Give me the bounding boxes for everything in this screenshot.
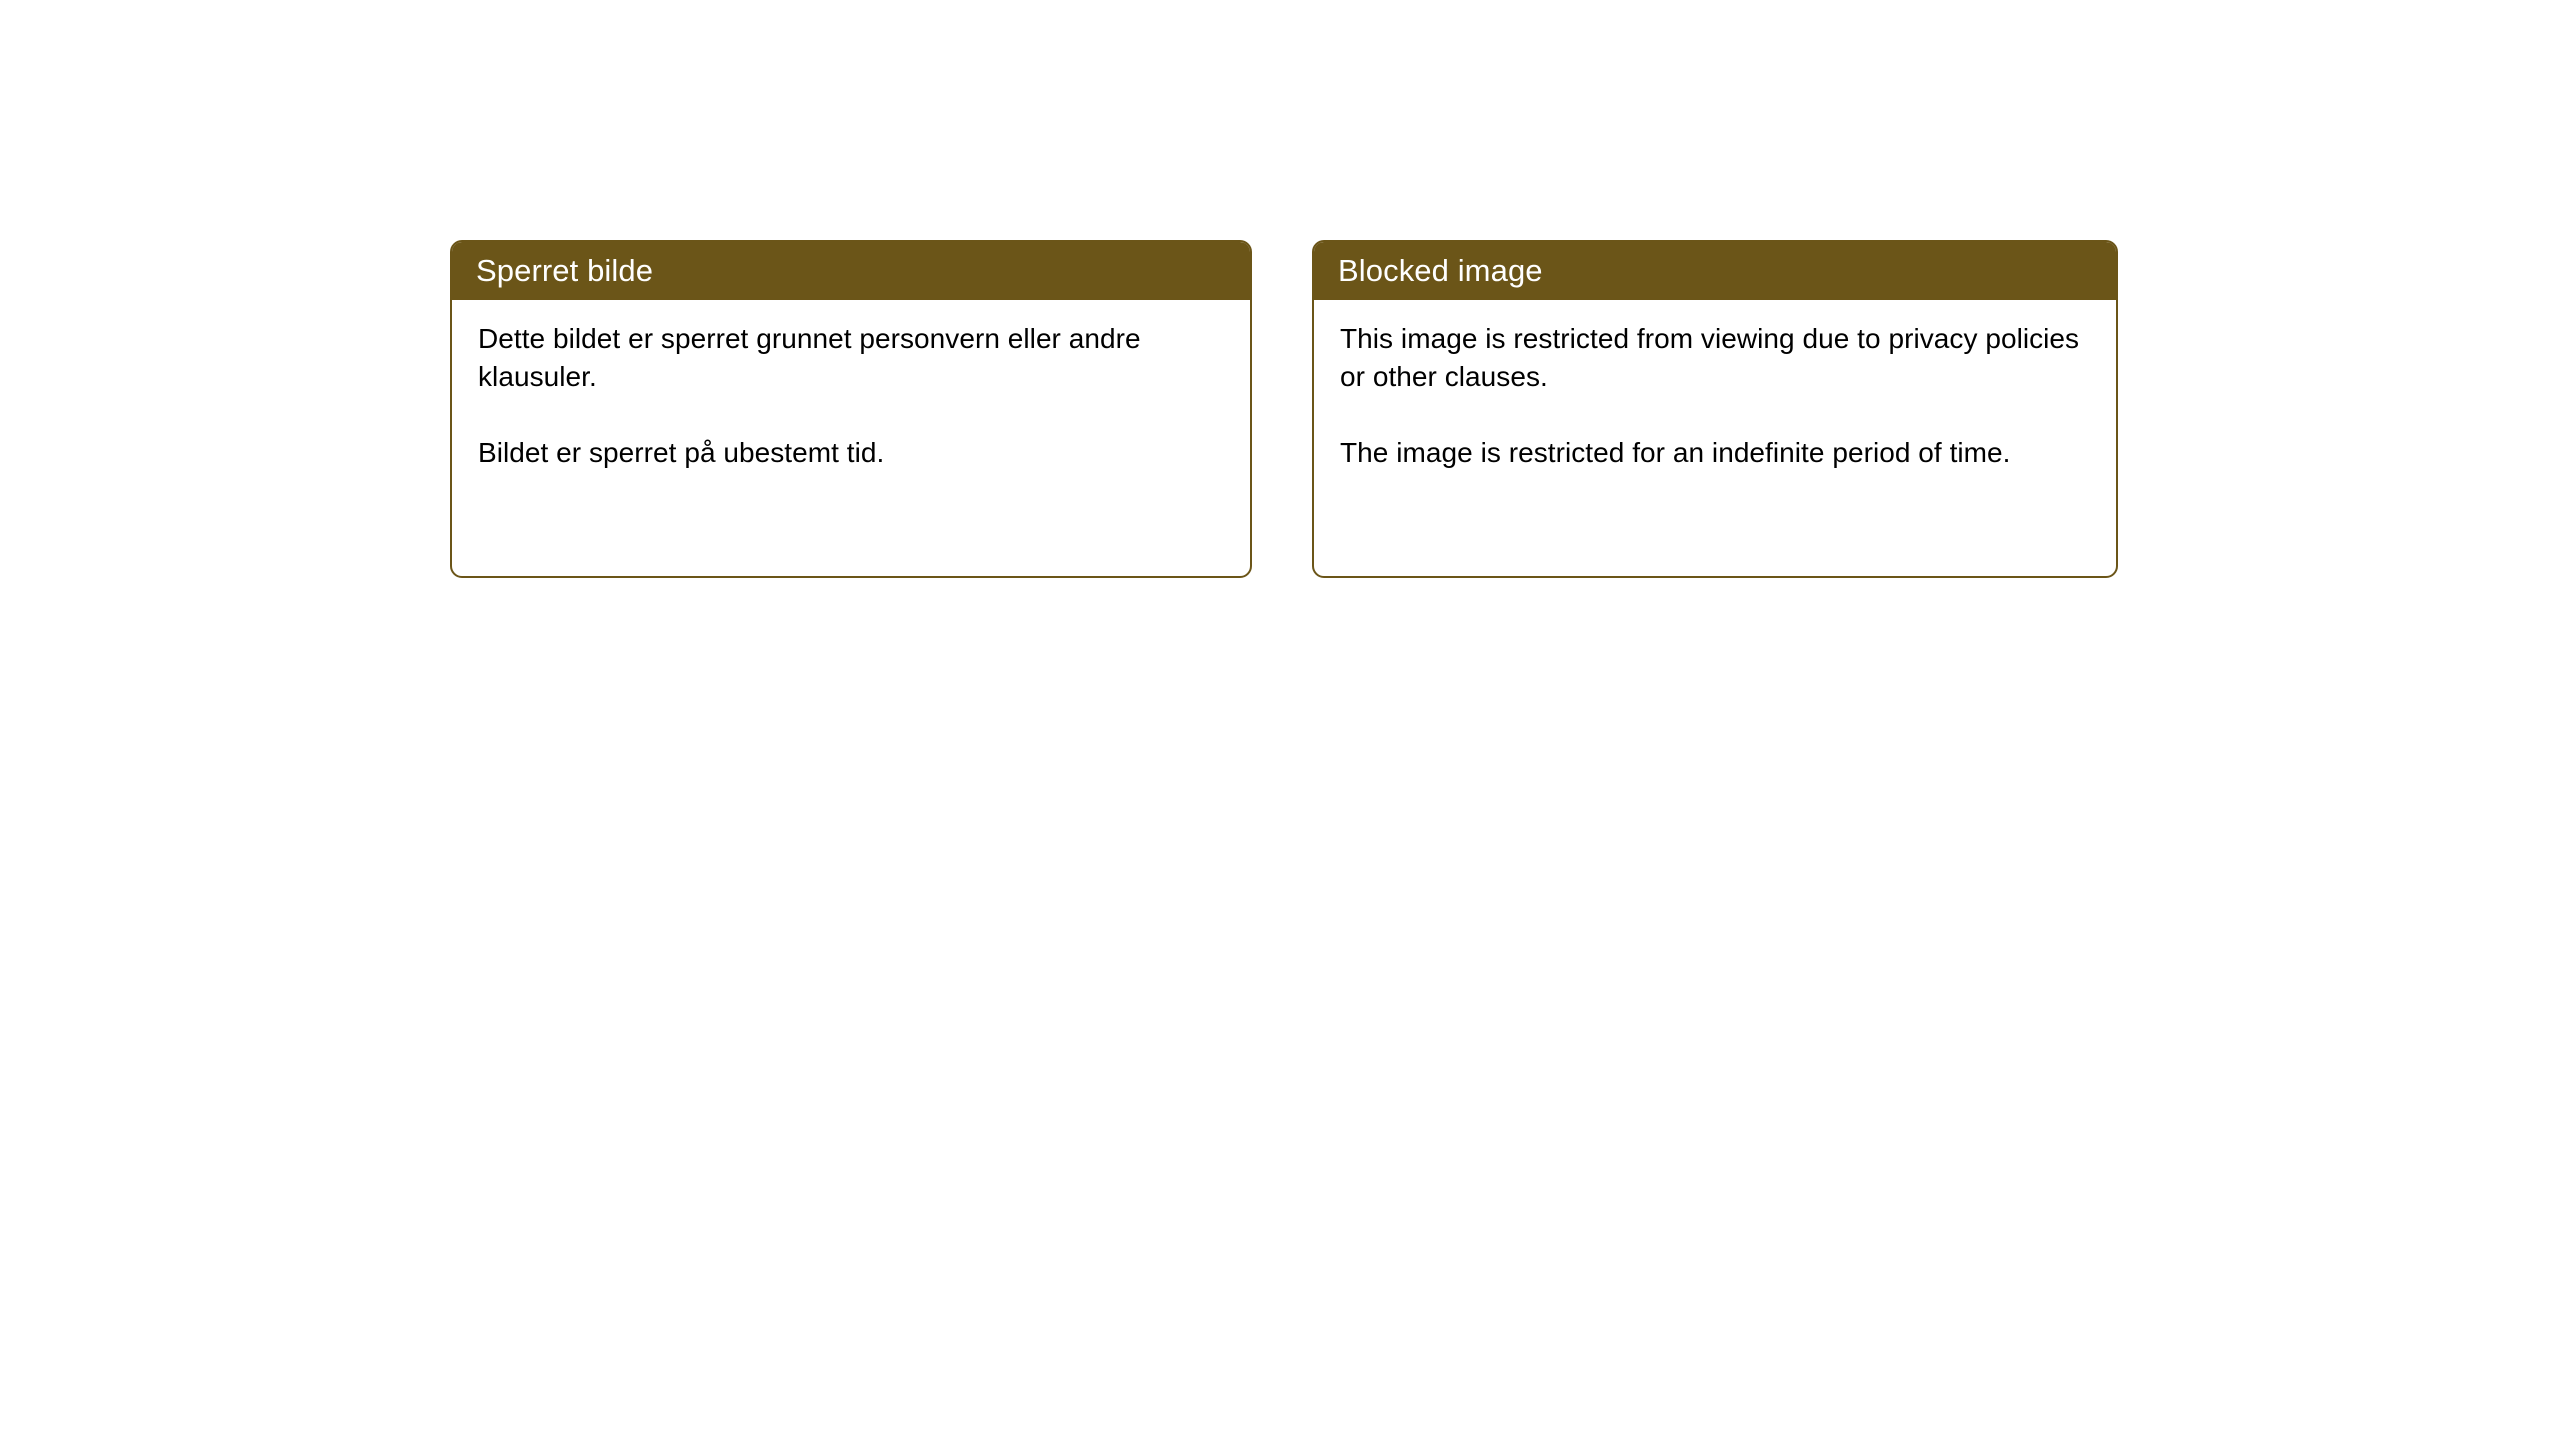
page-root: Sperret bilde Dette bildet er sperret gr… — [0, 0, 2560, 1440]
card-paragraph-no-1: Dette bildet er sperret grunnet personve… — [478, 320, 1224, 396]
card-title-no: Sperret bilde — [476, 255, 653, 286]
blocked-image-card-no: Sperret bilde Dette bildet er sperret gr… — [450, 240, 1252, 578]
card-header-en: Blocked image — [1312, 240, 2118, 300]
card-paragraph-en-1: This image is restricted from viewing du… — [1340, 320, 2090, 396]
card-title-en: Blocked image — [1338, 255, 1543, 286]
card-header-no: Sperret bilde — [450, 240, 1252, 300]
card-body-no: Dette bildet er sperret grunnet personve… — [452, 300, 1250, 472]
card-paragraph-en-2: The image is restricted for an indefinit… — [1340, 434, 2090, 472]
card-body-en: This image is restricted from viewing du… — [1314, 300, 2116, 472]
card-paragraph-no-2: Bildet er sperret på ubestemt tid. — [478, 434, 1224, 472]
blocked-image-card-en: Blocked image This image is restricted f… — [1312, 240, 2118, 578]
